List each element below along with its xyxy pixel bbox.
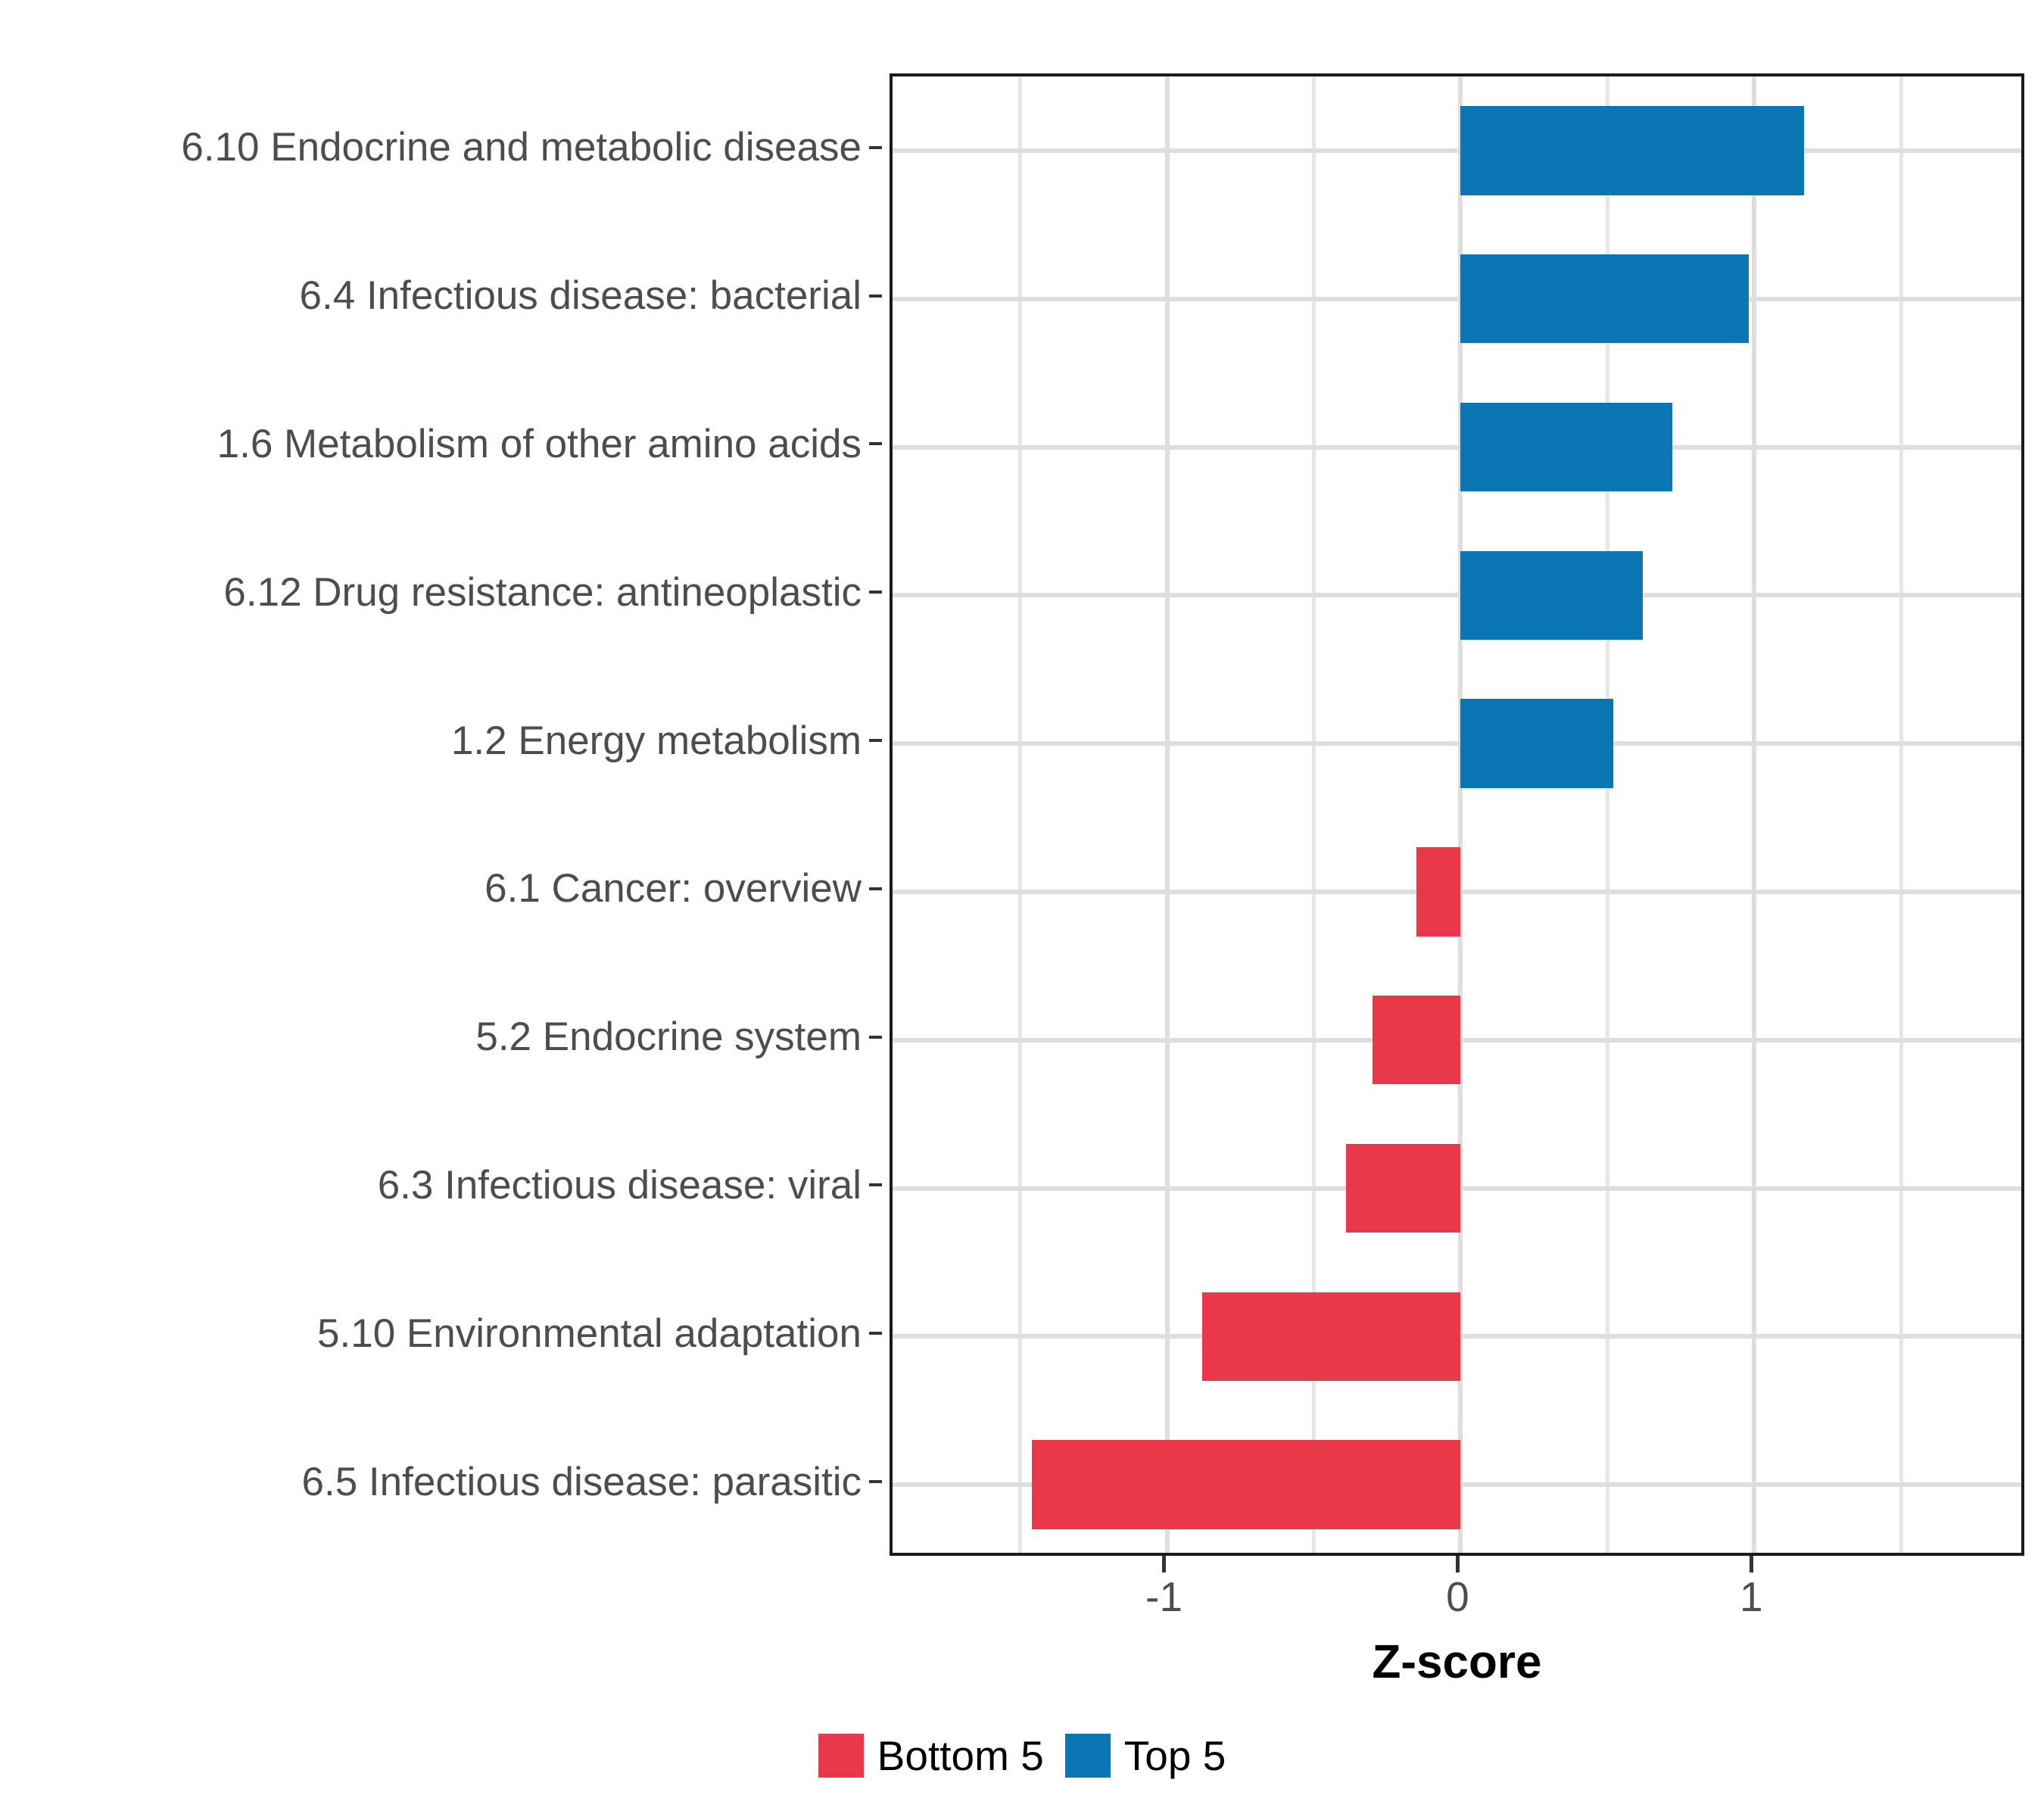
y-tick-mark (869, 887, 882, 890)
bar[interactable] (1460, 403, 1672, 491)
x-axis-tick-labels: -101 (890, 1576, 2024, 1629)
bar[interactable] (1460, 106, 1804, 195)
legend: Bottom 5 Top 5 (0, 1734, 2044, 1778)
y-tick-label: 5.2 Endocrine system (475, 1017, 862, 1057)
y-tick-label: 1.6 Metabolism of other amino acids (217, 424, 862, 464)
grid-line-horizontal (893, 148, 2021, 153)
bar-chart-figure: 6.10 Endocrine and metabolic disease 6.4… (0, 0, 2044, 1817)
y-tick-row: 6.1 Cancer: overview (0, 815, 869, 963)
bar[interactable] (1416, 847, 1460, 936)
y-tick-label: 6.1 Cancer: overview (485, 868, 862, 908)
x-axis-title: Z-score (890, 1639, 2024, 1686)
y-tick-row: 6.12 Drug resistance: antineoplastic (0, 518, 869, 666)
bar[interactable] (1460, 699, 1613, 787)
legend-label-bottom5: Bottom 5 (877, 1735, 1044, 1777)
y-tick-mark (869, 1183, 882, 1186)
y-tick-row: 6.3 Infectious disease: viral (0, 1111, 869, 1260)
y-tick-row: 6.5 Infectious disease: parasitic (0, 1407, 869, 1556)
y-tick-mark (869, 146, 882, 149)
legend-label-top5: Top 5 (1124, 1735, 1226, 1777)
legend-item-bottom5[interactable]: Bottom 5 (818, 1734, 1044, 1778)
y-tick-mark (869, 1036, 882, 1039)
y-tick-mark (869, 1332, 882, 1335)
bar[interactable] (1460, 551, 1642, 640)
y-tick-label: 1.2 Energy metabolism (451, 721, 862, 761)
x-tick-mark (1750, 1556, 1753, 1572)
x-tick-mark (1456, 1556, 1460, 1572)
y-tick-label: 6.3 Infectious disease: viral (378, 1165, 862, 1205)
x-tick-label: 1 (1740, 1576, 1763, 1618)
bar[interactable] (1202, 1292, 1460, 1381)
y-tick-label: 6.5 Infectious disease: parasitic (302, 1462, 862, 1502)
y-tick-label: 6.10 Endocrine and metabolic disease (181, 127, 862, 167)
y-tick-row: 6.4 Infectious disease: bacterial (0, 222, 869, 370)
plot-panel (890, 73, 2024, 1556)
y-tick-mark (869, 295, 882, 298)
bar[interactable] (1032, 1440, 1460, 1529)
y-tick-mark (869, 739, 882, 742)
legend-swatch-top5 (1065, 1734, 1111, 1778)
y-tick-label: 5.10 Environmental adaptation (317, 1314, 862, 1354)
y-tick-row: 1.6 Metabolism of other amino acids (0, 370, 869, 519)
y-tick-row: 1.2 Energy metabolism (0, 666, 869, 815)
legend-swatch-bottom5 (818, 1734, 864, 1778)
grid-line-horizontal (893, 297, 2021, 301)
grid-line-horizontal (893, 741, 2021, 746)
x-tick-label: -1 (1145, 1576, 1182, 1618)
y-tick-row: 6.10 Endocrine and metabolic disease (0, 73, 869, 222)
bar[interactable] (1346, 1144, 1460, 1233)
bar[interactable] (1373, 996, 1460, 1084)
y-tick-row: 5.2 Endocrine system (0, 963, 869, 1111)
y-tick-mark (869, 442, 882, 445)
y-tick-mark (869, 591, 882, 594)
y-tick-mark (869, 1480, 882, 1483)
bar[interactable] (1460, 254, 1748, 343)
y-tick-label: 6.12 Drug resistance: antineoplastic (223, 572, 862, 612)
grid-line-horizontal (893, 445, 2021, 450)
y-axis-labels: 6.10 Endocrine and metabolic disease 6.4… (0, 73, 869, 1556)
y-tick-row: 5.10 Environmental adaptation (0, 1259, 869, 1407)
x-tick-mark (1162, 1556, 1166, 1572)
y-tick-label: 6.4 Infectious disease: bacterial (300, 276, 862, 316)
x-axis-ticks (890, 1556, 2024, 1572)
legend-item-top5[interactable]: Top 5 (1065, 1734, 1226, 1778)
grid-line-horizontal (893, 593, 2021, 597)
x-tick-label: 0 (1446, 1576, 1469, 1618)
